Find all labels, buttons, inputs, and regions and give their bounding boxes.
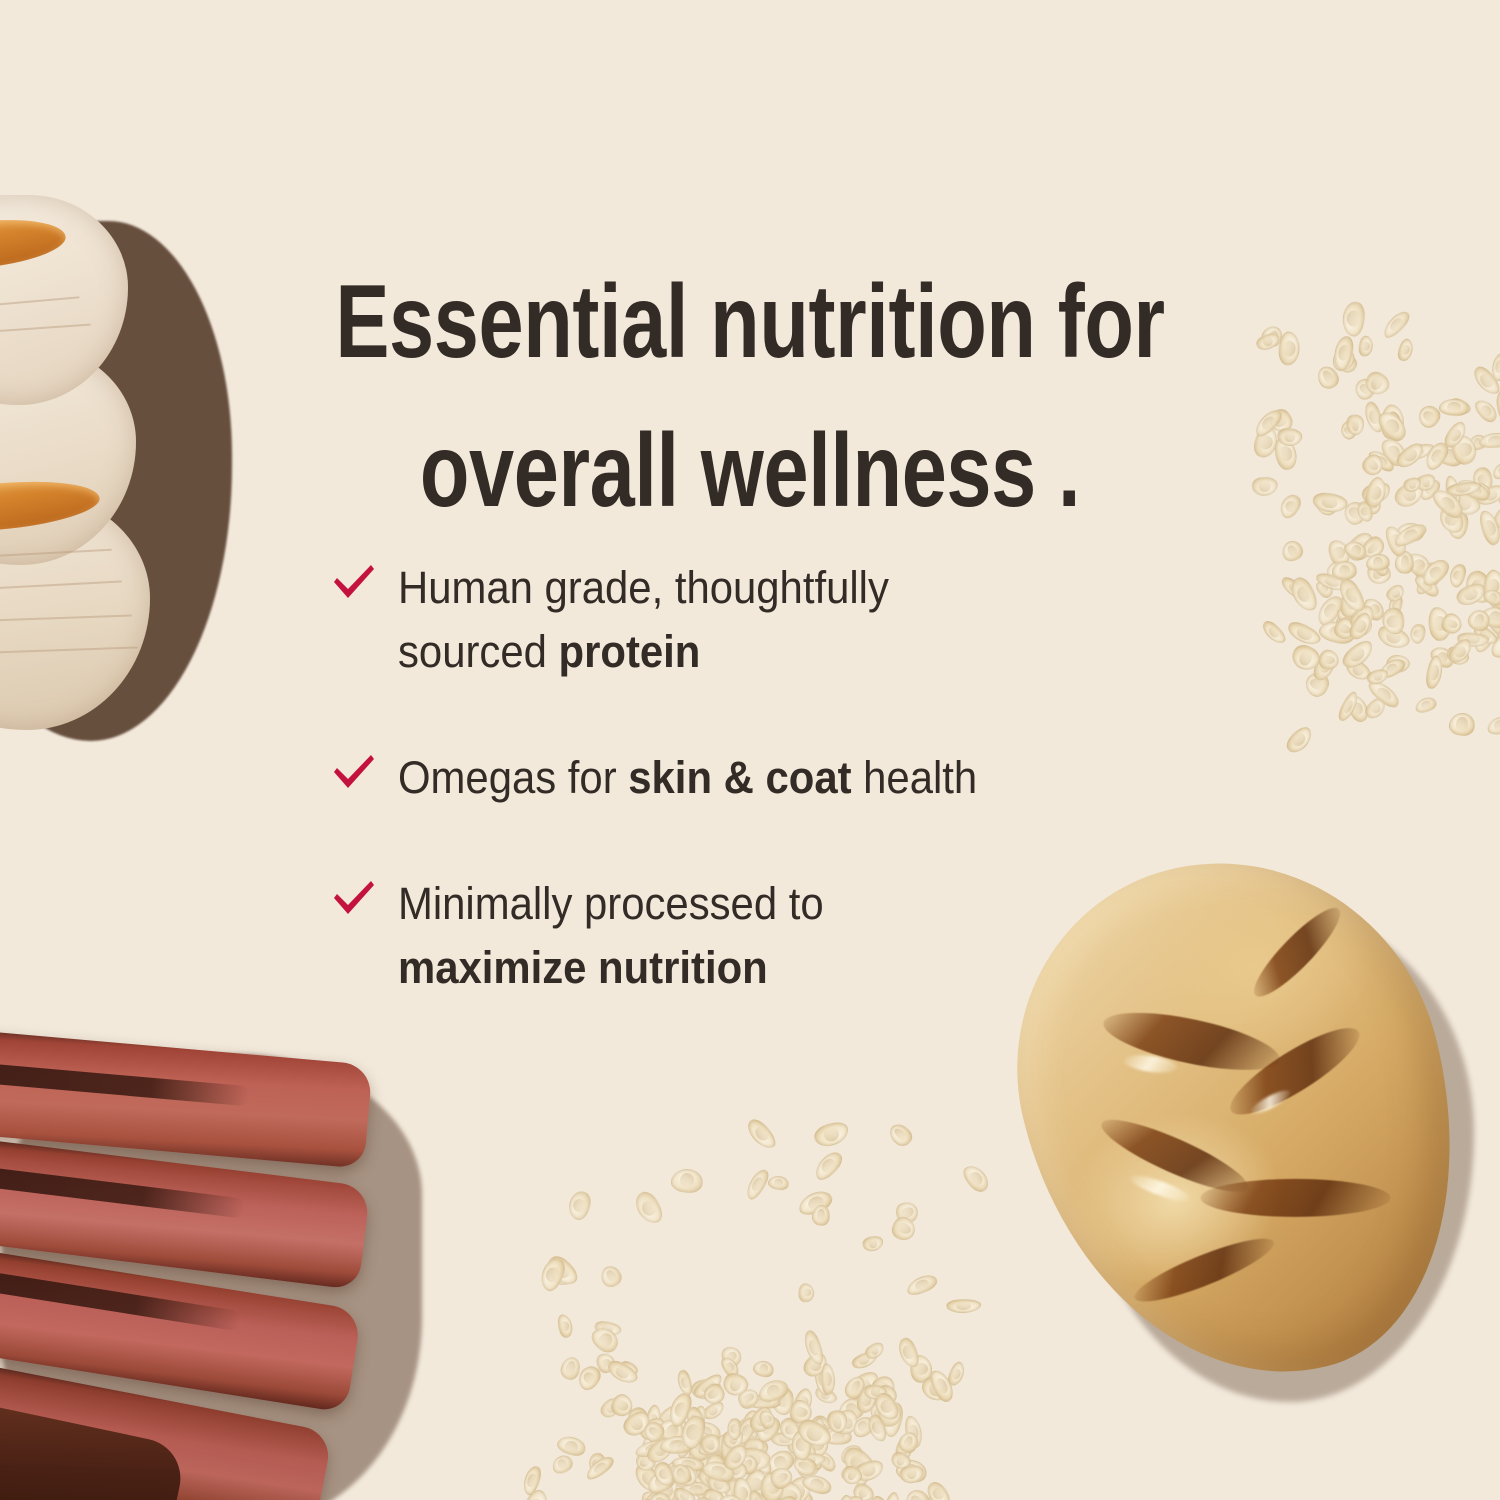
oat-flake [604, 1357, 640, 1388]
page-title: Essential nutrition for overall wellness… [165, 248, 1335, 548]
oat-flake [959, 1161, 993, 1196]
oat-flake [1448, 712, 1475, 736]
oat-flake [1439, 398, 1470, 416]
oat-flake [1259, 617, 1289, 647]
chicken-char-mark [1099, 1001, 1284, 1081]
check-icon [330, 560, 376, 606]
list-item-label: Human grade, thoughtfully sourced protei… [398, 556, 889, 684]
oat-flake [1413, 695, 1439, 716]
chicken-char-mark [1221, 1015, 1369, 1128]
promo-banner: Essential nutrition for overall wellness… [0, 0, 1500, 1500]
oat-flake [767, 1175, 790, 1192]
chicken-body [973, 817, 1500, 1423]
chicken-char-mark [1245, 899, 1350, 1006]
list-item-label: Omegas for skin & coat health [398, 746, 977, 810]
oat-flake [1396, 337, 1416, 363]
oat-flake [1380, 307, 1414, 341]
chicken-char-mark [1200, 1179, 1390, 1217]
roasted-chicken-breast-photo [1030, 860, 1490, 1420]
oat-flake [812, 1205, 831, 1227]
oat-flake [671, 1168, 704, 1194]
oat-flake [885, 1120, 916, 1150]
oat-flake [556, 1313, 575, 1339]
oat-flake [597, 1262, 625, 1291]
oat-flake [566, 1189, 594, 1222]
oat-flake [631, 1188, 667, 1228]
oat-flake [743, 1115, 780, 1153]
oat-flake [1408, 622, 1427, 645]
oat-flake [895, 1335, 922, 1370]
oat-flake [752, 1359, 776, 1380]
list-item-label: Minimally processed to maximize nutritio… [398, 872, 824, 1000]
oat-flake [1383, 582, 1407, 605]
headline-line-2: overall wellness . [165, 397, 1335, 547]
oat-flake [675, 1369, 694, 1398]
list-item: Human grade, thoughtfully sourced protei… [330, 556, 1210, 684]
list-item: Omegas for skin & coat health [330, 746, 1210, 810]
oat-flake [904, 1271, 940, 1298]
oat-flake [1282, 723, 1316, 757]
oat-flake [549, 1452, 575, 1477]
headline-line-1: Essential nutrition for [165, 248, 1335, 398]
oat-flake [860, 1234, 884, 1253]
oat-flake [946, 1299, 981, 1314]
chicken-char-mark [1129, 1228, 1279, 1312]
oat-flake [811, 1148, 846, 1184]
oat-flake [1317, 648, 1339, 670]
oat-flake [1357, 335, 1374, 358]
oat-flake [1485, 713, 1500, 737]
oat-flake [799, 1284, 815, 1303]
oat-flake [811, 1119, 851, 1151]
rolled-oats-scatter-photo [545, 1120, 965, 1500]
oat-flake [1362, 474, 1390, 510]
oat-flake [727, 1417, 741, 1440]
check-icon [330, 750, 376, 796]
oat-flake [1341, 300, 1366, 337]
check-icon [330, 876, 376, 922]
sliced-beef-steak-photo [0, 1020, 440, 1500]
oat-flake [820, 1363, 836, 1395]
